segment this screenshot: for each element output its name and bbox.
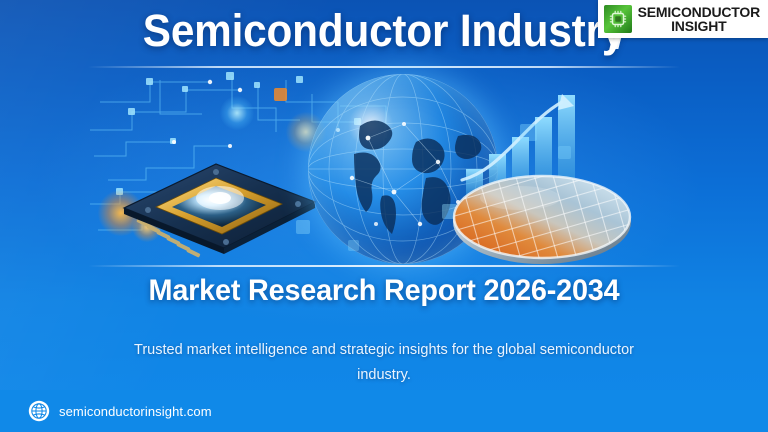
- globe-icon: [28, 400, 50, 422]
- brand-logo-line2: INSIGHT: [638, 19, 760, 34]
- report-subtitle: Market Research Report 2026-2034: [15, 272, 752, 310]
- marketing-banner: Semiconductor Industry: [0, 0, 768, 432]
- brand-logo-text: SEMICONDUCTOR INSIGHT: [638, 5, 760, 34]
- glow-square: [296, 220, 310, 234]
- glow-square: [348, 240, 359, 251]
- glow-square: [520, 124, 537, 141]
- microprocessor-chip-icon: [112, 150, 327, 262]
- divider-middle: [88, 265, 680, 267]
- chip-icon: [604, 5, 632, 33]
- hero-artwork: [90, 72, 678, 262]
- divider-top: [88, 66, 680, 68]
- silicon-wafer-icon: [450, 172, 635, 264]
- footer-url[interactable]: semiconductorinsight.com: [59, 404, 212, 419]
- glow-square: [558, 146, 571, 159]
- footer-bar: semiconductorinsight.com: [0, 390, 768, 432]
- tagline: Trusted market intelligence and strategi…: [120, 338, 648, 388]
- brand-logo[interactable]: SEMICONDUCTOR INSIGHT: [598, 0, 768, 38]
